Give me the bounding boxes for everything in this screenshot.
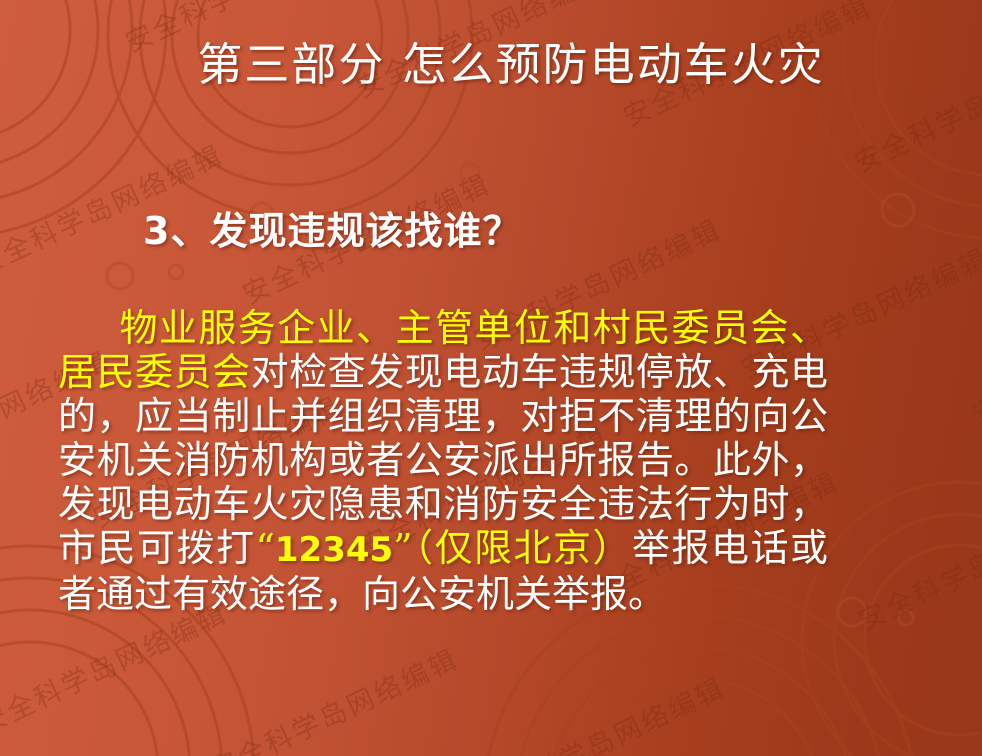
watermark-text: 安全科学岛网络编辑 [967, 289, 982, 431]
highlight-hotline-scope: ”（仅限北京） [393, 526, 632, 570]
watermark-text: 安全科学岛网络编辑 [0, 598, 233, 740]
presentation-slide: 安全科学岛网络编辑安全科学岛网络编辑安全科学岛网络编辑安全科学岛网络编辑 安全科… [0, 0, 982, 756]
watermark-text: 安全科学岛网络编辑 [473, 673, 731, 756]
watermark-text: 安全科学岛网络编辑 [972, 747, 982, 756]
body-paragraph: 物业服务企业、主管单位和村民委员会、居民委员会对检查发现电动车违规停放、充电的，… [58, 306, 828, 616]
watermark-text: 安全科学岛网络编辑 [854, 495, 982, 637]
quote-open: “ [255, 526, 274, 570]
section-heading-text: 发现违规该找谁？ [209, 208, 521, 253]
section-heading: 3、发现违规该找谁？ [143, 200, 521, 255]
watermark-text: 安全科学岛网络编辑 [704, 719, 962, 756]
slide-title: 第三部分 怎么预防电动车火灾 [0, 38, 982, 92]
watermark-text: 安全科学岛网络编辑 [206, 644, 464, 756]
highlight-hotline-number: 12345 [275, 530, 393, 570]
watermark-row: 安全科学岛网络编辑安全科学岛网络编辑安全科学岛网络编辑安全科学岛网络编辑 [211, 704, 982, 756]
section-heading-number: 3、 [143, 209, 209, 253]
